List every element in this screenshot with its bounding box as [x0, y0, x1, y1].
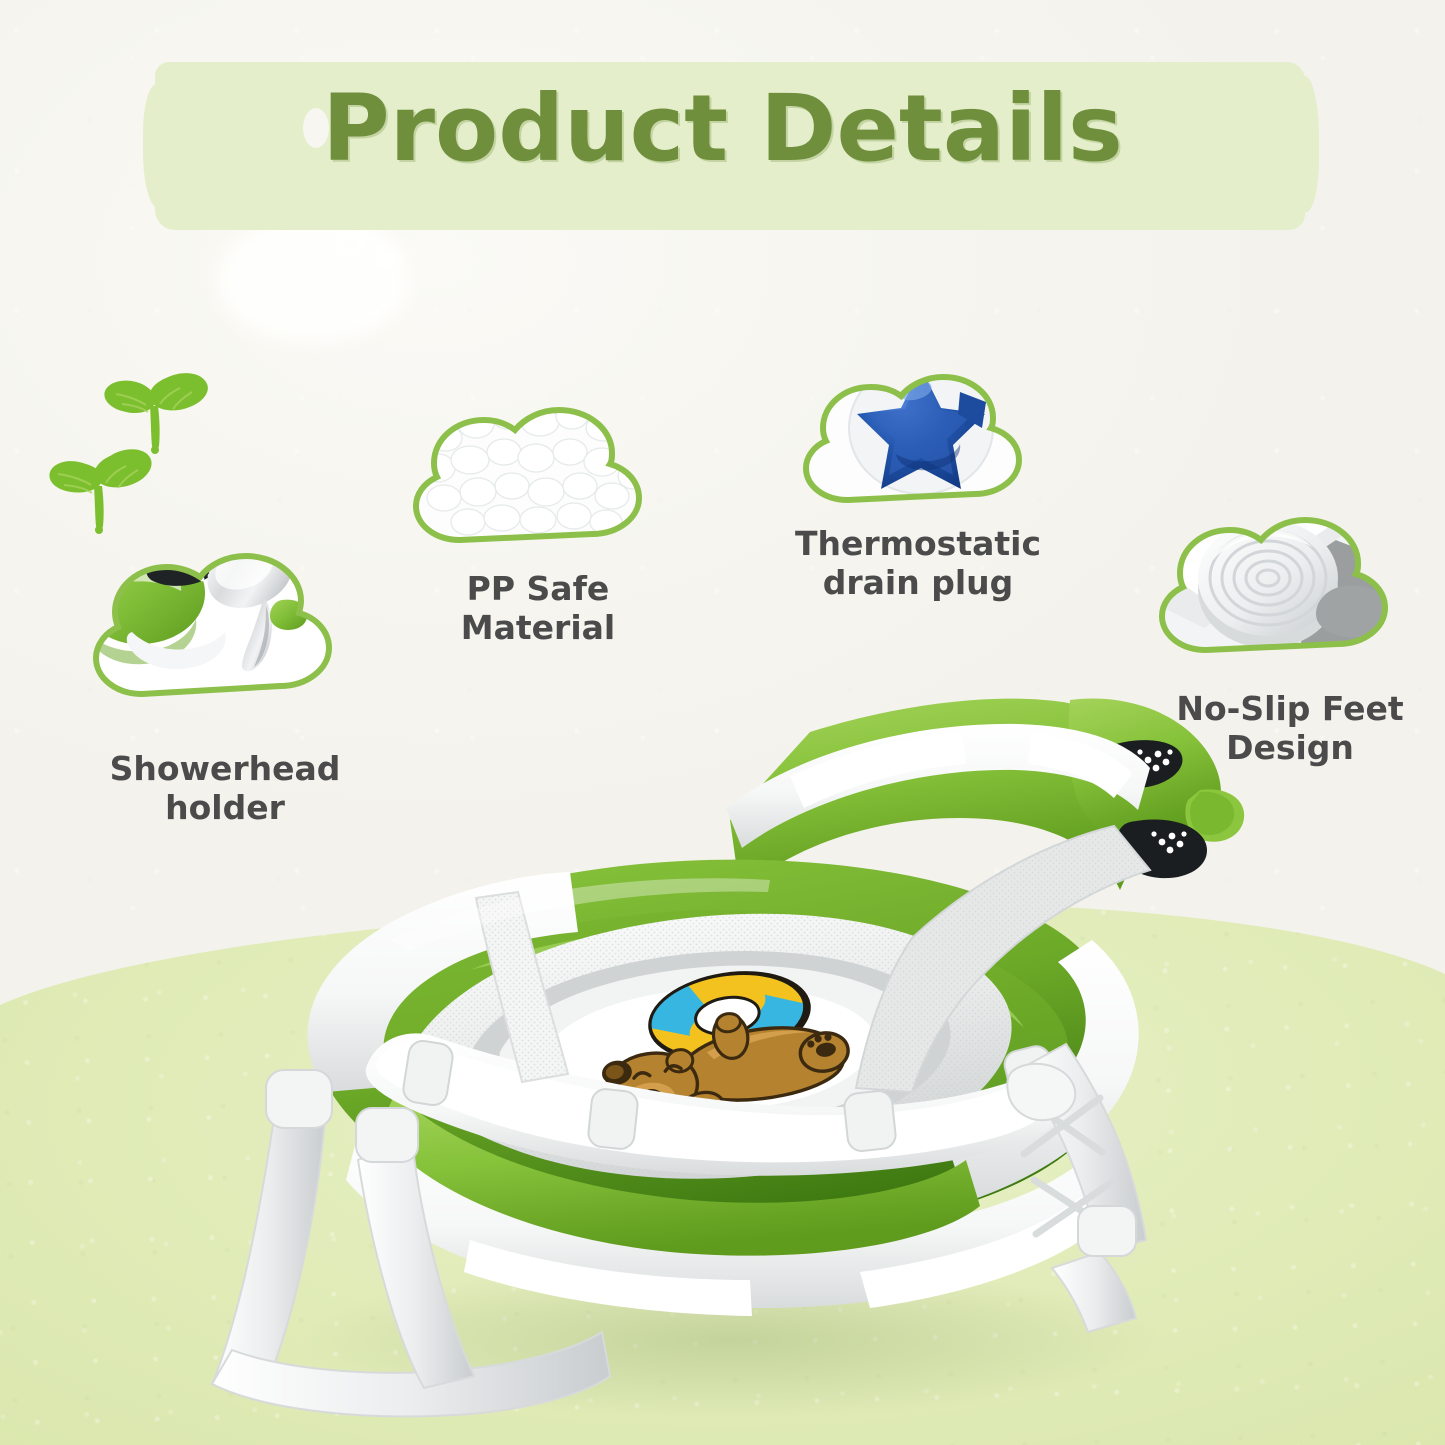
feature-label-line2: drain plug: [768, 564, 1068, 603]
product-image-foldable-baby-bathtub: [170, 640, 1290, 1430]
feature-label-line1: PP Safe: [398, 570, 678, 609]
sprout-decoration-icon: [44, 358, 244, 538]
white-cloud-blob-tiny-icon: [372, 248, 402, 270]
page-title: Product Details: [0, 76, 1445, 182]
feature-label-thermostatic-drain-plug: Thermostatic drain plug: [768, 525, 1068, 602]
feature-badge-thermostatic-drain-plug: [788, 336, 1053, 531]
white-cloud-blob-small-icon: [330, 228, 372, 260]
feature-badge-pp-safe-material: [398, 368, 678, 573]
feature-label-line1: Thermostatic: [768, 525, 1068, 564]
feature-label-pp-safe-material: PP Safe Material: [398, 570, 678, 647]
product-details-infographic: Product Details: [0, 0, 1445, 1445]
